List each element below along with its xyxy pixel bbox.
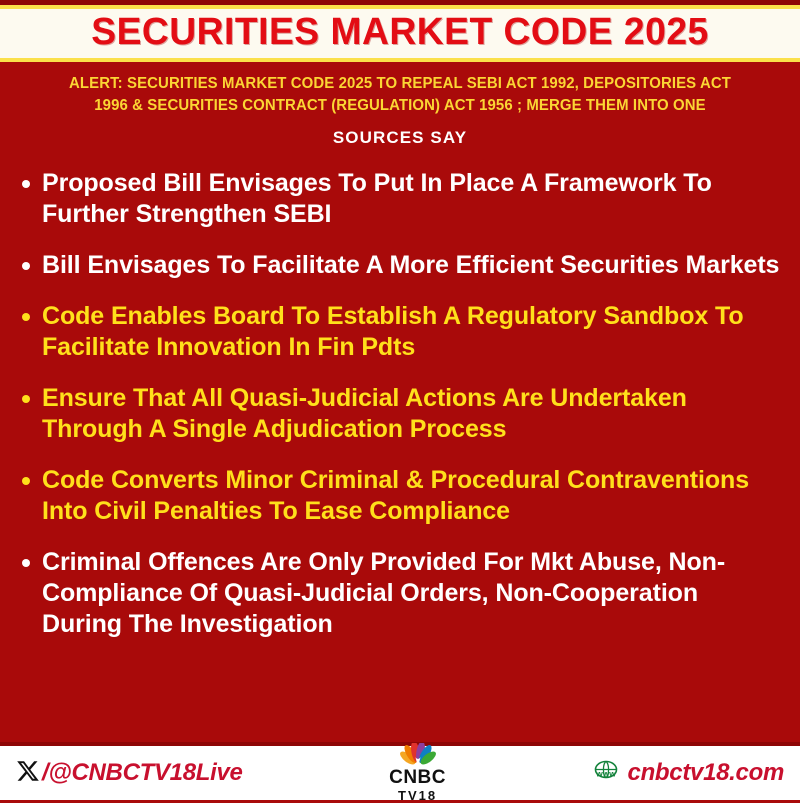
list-item-text: Criminal Offences Are Only Provided For …	[42, 547, 782, 640]
sources-say-label: SOURCES SAY	[16, 128, 784, 148]
list-item-text: Bill Envisages To Facilitate A More Effi…	[42, 250, 779, 281]
list-item: Code Enables Board To Establish A Regula…	[18, 301, 782, 363]
bullet-dot-icon	[22, 559, 30, 567]
x-twitter-icon[interactable]	[16, 759, 40, 788]
www-text: www	[595, 768, 616, 778]
footer-bar: /@CNBCTV18Live	[0, 746, 800, 800]
list-item-text: Proposed Bill Envisages To Put In Place …	[42, 168, 782, 230]
website-label[interactable]: cnbctv18.com	[628, 759, 784, 787]
list-item: Bill Envisages To Facilitate A More Effi…	[18, 250, 782, 281]
news-card: SECURITIES MARKET CODE 2025 ALERT: SECUR…	[0, 0, 800, 800]
nbc-peacock-icon	[391, 743, 445, 767]
alert-block: ALERT: SECURITIES MARKET CODE 2025 TO RE…	[0, 62, 800, 148]
list-item: Criminal Offences Are Only Provided For …	[18, 547, 782, 640]
twitter-handle-label[interactable]: /@CNBCTV18Live	[42, 759, 243, 787]
alert-line-1: ALERT: SECURITIES MARKET CODE 2025 TO RE…	[29, 73, 770, 95]
channel-name-label: CNBC	[389, 768, 446, 787]
www-globe-icon: www	[593, 760, 619, 787]
bullet-dot-icon	[22, 477, 30, 485]
page-title: SECURITIES MARKET CODE 2025	[8, 13, 792, 53]
list-item-text: Ensure That All Quasi-Judicial Actions A…	[42, 383, 782, 445]
website-group[interactable]: www cnbctv18.com	[593, 759, 784, 787]
channel-logo: CNBC TV18	[389, 743, 446, 802]
bullet-dot-icon	[22, 395, 30, 403]
social-handle-group[interactable]: /@CNBCTV18Live	[16, 759, 243, 788]
list-item: Code Converts Minor Criminal & Procedura…	[18, 465, 782, 527]
list-item-text: Code Converts Minor Criminal & Procedura…	[42, 465, 782, 527]
alert-line-2: 1996 & SECURITIES CONTRACT (REGULATION) …	[29, 95, 770, 117]
list-item: Ensure That All Quasi-Judicial Actions A…	[18, 383, 782, 445]
bullet-dot-icon	[22, 262, 30, 270]
list-item-text: Code Enables Board To Establish A Regula…	[42, 301, 782, 363]
bullet-dot-icon	[22, 180, 30, 188]
headline-banner: SECURITIES MARKET CODE 2025	[0, 9, 800, 58]
list-item: Proposed Bill Envisages To Put In Place …	[18, 168, 782, 230]
bullet-dot-icon	[22, 313, 30, 321]
bullet-list: Proposed Bill Envisages To Put In Place …	[0, 148, 800, 742]
